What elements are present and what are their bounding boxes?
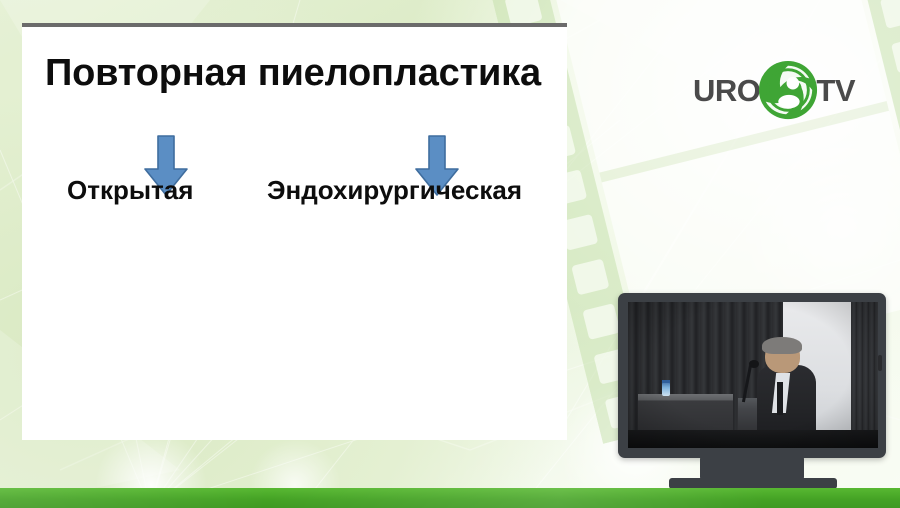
bottom-accent-bar	[0, 488, 900, 508]
monitor-power-led-icon	[878, 355, 882, 371]
uro-tv-emblem-icon	[757, 59, 819, 121]
monitor-stand-neck	[700, 457, 804, 479]
video-scene	[628, 302, 878, 448]
branch-label-open: Открытая	[67, 175, 193, 206]
branch-label-endosurgical: Эндохирургическая	[267, 175, 522, 206]
slide-title: Повторная пиелопластика	[45, 52, 541, 95]
video-screen[interactable]	[628, 302, 878, 448]
screen-vignette	[628, 302, 878, 448]
presentation-slide-frame: URO TV Повторная пиелопластика Открытая …	[0, 0, 900, 508]
slide-content-panel: Повторная пиелопластика Открытая Эндохир…	[22, 27, 567, 440]
logo-text-tv: TV	[816, 75, 855, 106]
video-monitor[interactable]	[618, 293, 886, 458]
uro-tv-logo: URO TV	[693, 58, 855, 122]
logo-text-uro: URO	[693, 75, 760, 106]
